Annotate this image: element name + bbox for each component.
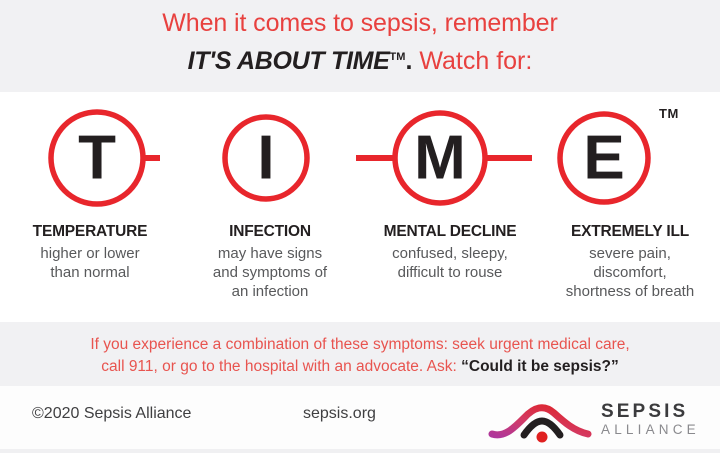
cta-line-1: If you experience a combination of these… xyxy=(0,335,720,355)
kicker-trademark-symbol: TM xyxy=(390,51,406,63)
symptom-column-mental-decline: MENTAL DECLINE confused, sleepy, difficu… xyxy=(360,222,540,322)
symptom-title: EXTREMELY ILL xyxy=(546,222,714,242)
logo-dot xyxy=(537,432,548,443)
kicker-period: . xyxy=(405,47,412,75)
symptom-body-line: shortness of breath xyxy=(546,282,714,301)
symptom-title: INFECTION xyxy=(186,222,354,242)
sepsis-alliance-logo[interactable]: SEPSIS ALLIANCE xyxy=(488,394,703,444)
symptom-title: MENTAL DECLINE xyxy=(366,222,534,242)
call-to-action-band: If you experience a combination of these… xyxy=(0,322,720,386)
symptom-body-line: confused, sleepy, xyxy=(366,244,534,263)
symptom-body-line: may have signs xyxy=(186,244,354,263)
letter-m: M xyxy=(414,124,466,193)
symptom-body-line: severe pain, xyxy=(546,244,714,263)
symptom-column-temperature: TEMPERATURE higher or lower than normal xyxy=(0,222,180,322)
symptom-body-line: higher or lower xyxy=(6,244,174,263)
time-trademark-symbol: TM xyxy=(659,106,679,121)
symptom-column-extremely-ill: EXTREMELY ILL severe pain, discomfort, s… xyxy=(540,222,720,322)
symptom-body-line: and symptoms of xyxy=(186,263,354,282)
symptom-body: higher or lower than normal xyxy=(6,244,174,282)
symptom-body: severe pain, discomfort, shortness of br… xyxy=(546,244,714,301)
logo-word-alliance: ALLIANCE xyxy=(601,422,700,438)
sepsis-time-infographic: When it comes to sepsis, remember IT'S A… xyxy=(0,0,720,453)
letter-i: I xyxy=(257,124,274,193)
symptom-title: TEMPERATURE xyxy=(6,222,174,242)
header-watch-for-text: Watch for: xyxy=(419,47,532,75)
symptom-column-infection: INFECTION may have signs and symptoms of… xyxy=(180,222,360,322)
cta-line-2-text: call 911, or go to the hospital with an … xyxy=(101,358,457,375)
sepsis-alliance-logo-mark xyxy=(488,394,596,444)
bottom-edge-strip xyxy=(0,449,720,453)
copyright-text: ©2020 Sepsis Alliance xyxy=(32,405,191,423)
website-link[interactable]: sepsis.org xyxy=(303,405,376,423)
cta-question-quote: “Could it be sepsis?” xyxy=(461,358,619,375)
symptom-body-line: discomfort, xyxy=(546,263,714,282)
symptom-body-line: difficult to rouse xyxy=(366,263,534,282)
time-diagram-svg: T I M E xyxy=(0,92,720,222)
its-about-time-kicker: IT'S ABOUT TIME xyxy=(188,47,390,75)
footer-band: ©2020 Sepsis Alliance sepsis.org SEPSIS … xyxy=(0,386,720,453)
symptom-body-line: an infection xyxy=(186,282,354,301)
logo-wordmark: SEPSIS ALLIANCE xyxy=(601,401,700,438)
symptom-descriptions: TEMPERATURE higher or lower than normal … xyxy=(0,222,720,322)
cta-line-2: call 911, or go to the hospital with an … xyxy=(0,357,720,377)
symptom-body: confused, sleepy, difficult to rouse xyxy=(366,244,534,282)
symptom-body: may have signs and symptoms of an infect… xyxy=(186,244,354,301)
logo-word-sepsis: SEPSIS xyxy=(601,401,700,422)
header-band: When it comes to sepsis, remember IT'S A… xyxy=(0,0,720,92)
header-headline-line-1: When it comes to sepsis, remember xyxy=(0,8,720,38)
time-acronym-diagram: T I M E TM xyxy=(0,92,720,222)
header-headline-line-2: IT'S ABOUT TIMETM. Watch for: xyxy=(0,42,720,76)
symptom-body-line: than normal xyxy=(6,263,174,282)
letter-t: T xyxy=(78,124,116,193)
letter-e: E xyxy=(583,124,624,193)
